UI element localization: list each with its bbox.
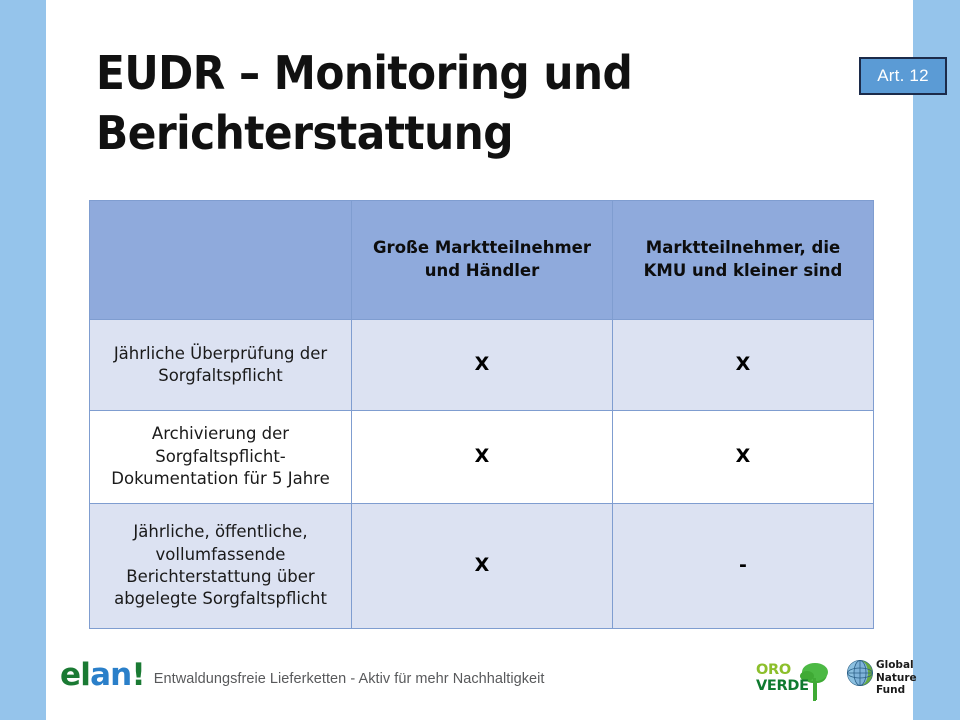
global-nature-fund-logo: Global Nature Fund [846,657,912,703]
elan-logo-part-el: el [60,657,90,693]
row-label-annual-public-reporting: Jährliche, öffentliche, vollumfassende B… [90,504,352,629]
global-nature-fund-wordmark: Global Nature Fund [876,659,917,697]
cell-large-operators-row-3: X [352,504,613,629]
table-body: Jährliche Überprüfung der Sorgfaltspflic… [90,320,874,629]
table-row: Archivierung der Sorgfaltspflicht- Dokum… [90,411,874,504]
cell-large-operators-row-1: X [352,320,613,411]
cell-sme-operators-row-3: - [613,504,874,629]
cell-large-operators-row-2: X [352,411,613,504]
right-accent-band [913,0,960,720]
column-header-blank [90,201,352,320]
elan-logo-part-exclamation: ! [131,657,144,693]
oroverde-word-verde: VERDE [756,678,809,694]
elan-branding: elan! Entwaldungsfreie Lieferketten - Ak… [60,660,545,691]
page-title: EUDR – Monitoring und Berichterstattung [96,44,703,164]
slide-footer: elan! Entwaldungsfreie Lieferketten - Ak… [0,652,960,712]
oroverde-word-oro: ORO [756,662,809,678]
table-header: Große Marktteilnehmer und Händler Marktt… [90,201,874,320]
elan-logo: elan! [60,660,145,691]
column-header-large-operators: Große Marktteilnehmer und Händler [352,201,613,320]
oroverde-logo: ORO VERDE [756,656,832,704]
row-label-archiving-documentation: Archivierung der Sorgfaltspflicht- Dokum… [90,411,352,504]
cell-sme-operators-row-1: X [613,320,874,411]
article-reference-badge: Art. 12 [859,57,947,95]
obligations-matrix-table: Große Marktteilnehmer und Händler Marktt… [89,200,874,629]
elan-logo-part-an: an [90,657,131,693]
elan-tagline: Entwaldungsfreie Lieferketten - Aktiv fü… [154,671,545,687]
slide-canvas: EUDR – Monitoring und Berichterstattung … [0,0,960,720]
row-label-annual-due-diligence-review: Jährliche Überprüfung der Sorgfaltspflic… [90,320,352,411]
oroverde-wordmark: ORO VERDE [756,662,809,694]
left-accent-band [0,0,46,720]
table-row: Jährliche Überprüfung der Sorgfaltspflic… [90,320,874,411]
table-row: Jährliche, öffentliche, vollumfassende B… [90,504,874,629]
cell-sme-operators-row-2: X [613,411,874,504]
column-header-sme-operators: Marktteilnehmer, die KMU und kleiner sin… [613,201,874,320]
table-header-row: Große Marktteilnehmer und Händler Marktt… [90,201,874,320]
globe-icon [846,657,876,689]
